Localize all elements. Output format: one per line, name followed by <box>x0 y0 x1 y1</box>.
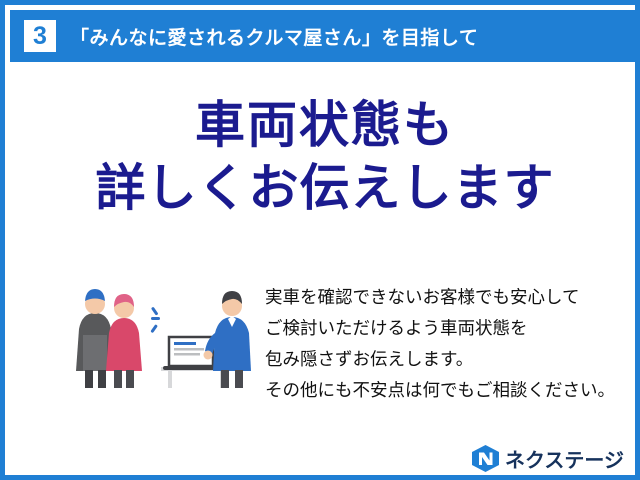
nextstage-n-logo-icon <box>472 445 499 472</box>
people-at-computer-illustration <box>65 277 255 392</box>
body-line-2: ご検討いただけるよう車両状態を <box>265 313 630 344</box>
headline: 車両状態も 詳しくお伝えします <box>10 94 640 220</box>
body-line-1: 実車を確認できないお客様でも安心して <box>265 282 630 313</box>
ad-banner: 3 「みんなに愛されるクルマ屋さん」を目指して 車両状態も 詳しくお伝えします <box>0 0 640 480</box>
body-line-3: 包み隠さずお伝えします。 <box>265 344 630 375</box>
header-bar: 3 「みんなに愛されるクルマ屋さん」を目指して <box>10 10 640 62</box>
body-line-4: その他にも不安点は何でもご相談ください。 <box>265 375 630 406</box>
brand-logo: ネクステージ <box>472 444 624 473</box>
body-copy: 実車を確認できないお客様でも安心して ご検討いただけるよう車両状態を 包み隠さず… <box>265 282 630 407</box>
brand-logo-text: ネクステージ <box>505 444 624 473</box>
headline-line-1: 車両状態も <box>195 97 455 153</box>
main-content: 車両状態も 詳しくお伝えします <box>10 62 640 437</box>
headline-line-2: 詳しくお伝えします <box>10 157 640 220</box>
step-number-badge: 3 <box>24 20 56 52</box>
footer-bar: ネクステージ <box>10 437 640 480</box>
header-title: 「みんなに愛されるクルマ屋さん」を目指して <box>70 23 478 50</box>
